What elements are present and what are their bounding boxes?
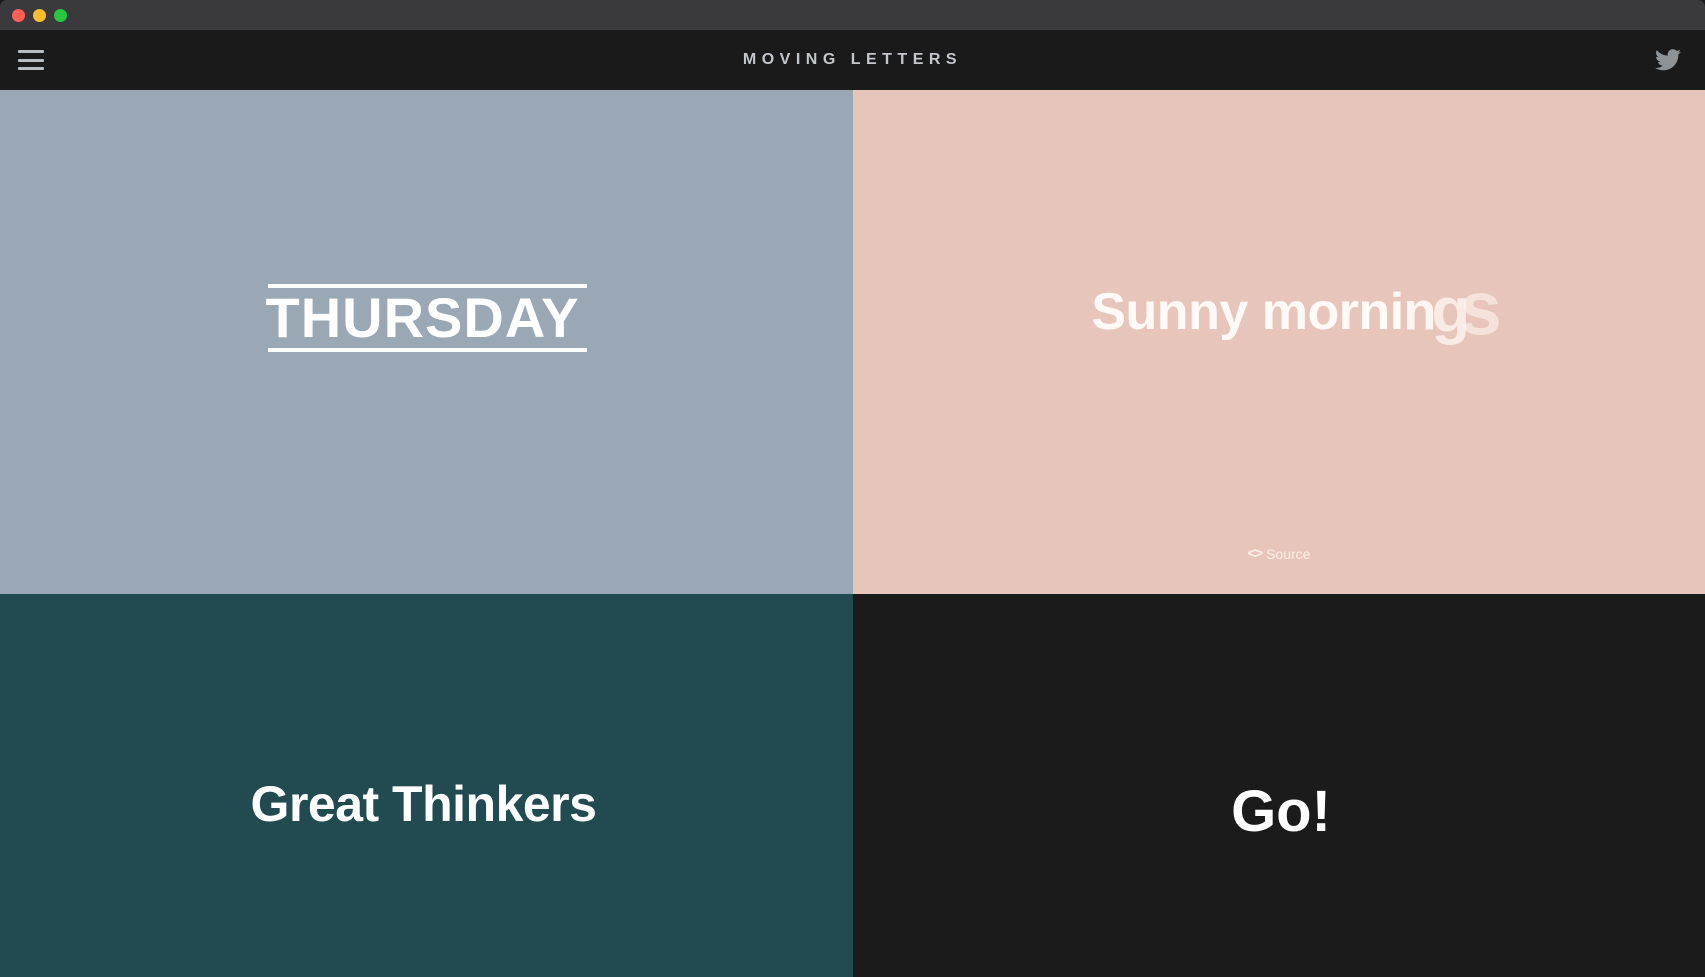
- go-text: Go!: [1231, 783, 1331, 841]
- sunny-mornings-stage: Sunny mornings: [1091, 286, 1494, 338]
- close-window-button[interactable]: [12, 9, 25, 22]
- thursday-rule-bottom: [268, 348, 588, 352]
- menu-bar-3: [18, 67, 44, 70]
- app-header: MOVING LETTERS: [0, 30, 1705, 90]
- thursday-stage: THURSDAY: [266, 284, 580, 352]
- sunny-letter: n: [1188, 286, 1219, 338]
- demo-panel-thursday[interactable]: THURSDAY: [0, 90, 853, 594]
- source-link-label: Source: [1266, 546, 1310, 562]
- sunny-letter: r: [1339, 286, 1359, 338]
- hamburger-menu-icon[interactable]: [18, 50, 44, 70]
- sunny-letter: o: [1307, 286, 1338, 338]
- sunny-letter: S: [1091, 286, 1125, 338]
- sunny-letter: u: [1126, 286, 1157, 338]
- thursday-text: THURSDAY: [266, 284, 580, 352]
- code-brackets-icon: <>: [1248, 545, 1262, 562]
- sunny-letter: n: [1157, 286, 1188, 338]
- sunny-letter: y: [1219, 286, 1247, 338]
- demo-panel-go[interactable]: Go!: [853, 594, 1705, 977]
- sunny-letter: n: [1358, 286, 1389, 338]
- go-stage: Go!: [1231, 783, 1331, 841]
- sunny-letter: s: [1460, 272, 1501, 348]
- sunny-mornings-text: Sunny mornings: [1091, 286, 1494, 338]
- sunny-letter: [1248, 286, 1262, 338]
- minimize-window-button[interactable]: [33, 9, 46, 22]
- traffic-light-group: [12, 9, 67, 22]
- maximize-window-button[interactable]: [54, 9, 67, 22]
- sunny-letter: i: [1390, 286, 1404, 338]
- source-link[interactable]: <> Source: [1248, 545, 1311, 562]
- great-thinkers-text: Great Thinkers: [251, 779, 597, 829]
- sunny-letter: m: [1262, 286, 1308, 338]
- demo-panel-great-thinkers[interactable]: Great Thinkers: [0, 594, 853, 977]
- demo-grid: THURSDAY Sunny mornings <> Source Great …: [0, 90, 1705, 977]
- menu-bar-1: [18, 50, 44, 53]
- great-thinkers-stage: Great Thinkers: [251, 779, 597, 829]
- window-titlebar: [0, 0, 1705, 30]
- demo-panel-sunny-mornings[interactable]: Sunny mornings <> Source: [853, 90, 1705, 594]
- page-title: MOVING LETTERS: [0, 51, 1705, 69]
- thursday-rule-top: [268, 284, 588, 288]
- twitter-bird-icon[interactable]: [1653, 47, 1683, 73]
- menu-bar-2: [18, 59, 44, 62]
